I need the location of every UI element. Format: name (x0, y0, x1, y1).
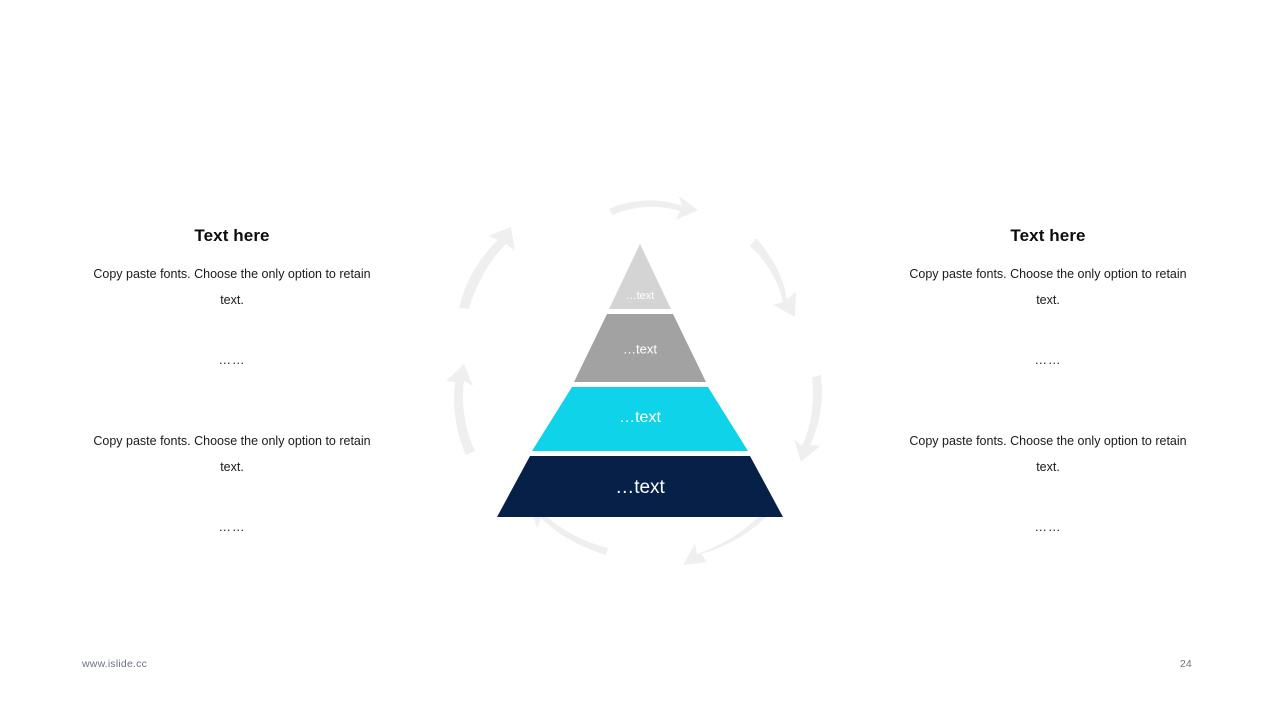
right-column-dots-1: …… (898, 350, 1198, 370)
left-column-paragraph-2: Copy paste fonts. Choose the only option… (82, 428, 382, 480)
left-column-spacer-1 (82, 313, 382, 350)
right-column-spacer-2 (898, 370, 1198, 428)
left-column-dots-2: …… (82, 517, 382, 537)
arrow-bottom-right-icon (683, 517, 766, 565)
right-column-spacer-3 (898, 480, 1198, 517)
right-column-paragraph-2: Copy paste fonts. Choose the only option… (898, 428, 1198, 480)
right-text-column: Text here Copy paste fonts. Choose the o… (898, 225, 1198, 537)
slide-canvas: Text here Copy paste fonts. Choose the o… (0, 0, 1280, 720)
left-column-spacer-2 (82, 370, 382, 428)
arrow-upper-right-icon (750, 238, 796, 317)
right-column-paragraph-1: Copy paste fonts. Choose the only option… (898, 261, 1198, 313)
footer-url[interactable]: www.islide.cc (82, 658, 147, 670)
left-column-paragraph-1: Copy paste fonts. Choose the only option… (82, 261, 382, 313)
left-text-column: Text here Copy paste fonts. Choose the o… (82, 225, 382, 537)
left-column-dots-1: …… (82, 350, 382, 370)
pyramid-cycle-diagram: …text …text …text …text (410, 165, 870, 585)
right-column-dots-2: …… (898, 517, 1198, 537)
left-column-title: Text here (82, 225, 382, 247)
right-column-spacer-1 (898, 313, 1198, 350)
left-column-spacer-3 (82, 480, 382, 517)
pyramid-layer-2-label: …text (619, 409, 661, 426)
pyramid-layer-3-label: …text (615, 477, 665, 498)
page-number: 24 (1180, 658, 1210, 670)
pyramid-layer-1-label: …text (623, 341, 657, 356)
arrow-upper-left-icon (459, 227, 515, 309)
arrow-top-icon (609, 196, 698, 220)
pyramid: …text …text …text …text (497, 244, 783, 517)
arrow-left-lower-icon (446, 364, 475, 455)
pyramid-layer-0-label: …text (626, 290, 655, 302)
arrow-lower-right-icon (794, 375, 822, 462)
right-column-title: Text here (898, 225, 1198, 247)
